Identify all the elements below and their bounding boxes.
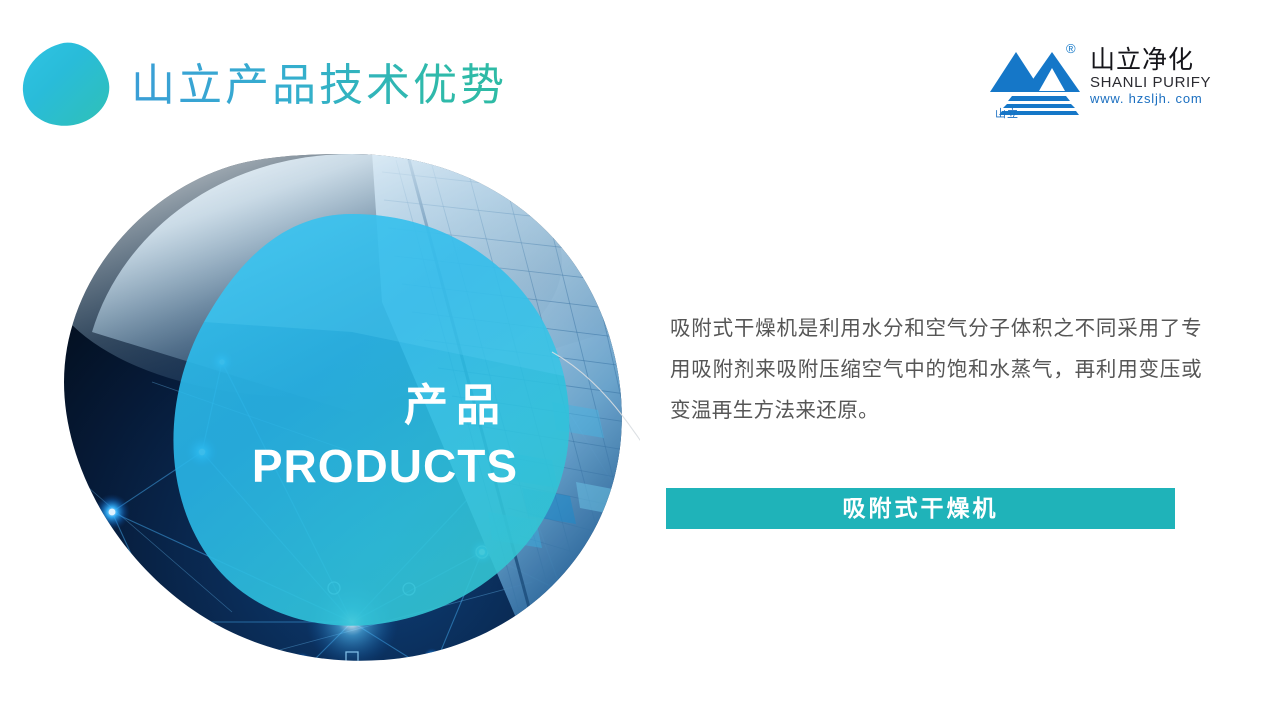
logo-mark-sublabel: 山立 bbox=[995, 108, 1019, 120]
slide-header: 山立产品技术优势 ® 山立 山立净化 SHANLI PURIFY www. hz… bbox=[0, 0, 1280, 150]
svg-text:PRODUCTS: PRODUCTS bbox=[252, 440, 518, 492]
twin-mountain-logo-mark-icon bbox=[990, 46, 1082, 116]
registered-trademark-icon: ® bbox=[1066, 42, 1076, 55]
logo-website-url: www. hzsljh. com bbox=[1090, 91, 1222, 107]
svg-text:产品: 产品 bbox=[404, 381, 508, 430]
product-name-banner-label: 吸附式干燥机 bbox=[843, 488, 999, 529]
blob-decoration-icon bbox=[12, 34, 117, 137]
products-blob-graphic: 产品 PRODUCTS bbox=[52, 152, 640, 672]
logo-company-name-en: SHANLI PURIFY bbox=[1090, 74, 1222, 91]
logo-text-block: 山立净化 SHANLI PURIFY www. hzsljh. com bbox=[1090, 46, 1222, 107]
company-logo: ® 山立 山立净化 SHANLI PURIFY www. hzsljh. com bbox=[990, 42, 1222, 118]
logo-company-name-cn: 山立净化 bbox=[1090, 46, 1222, 74]
product-name-banner[interactable]: 吸附式干燥机 bbox=[666, 488, 1175, 529]
page-title: 山立产品技术优势 bbox=[131, 58, 507, 114]
product-description: 吸附式干燥机是利用水分和空气分子体积之不同采用了专用吸附剂来吸附压缩空气中的饱和… bbox=[670, 308, 1202, 431]
